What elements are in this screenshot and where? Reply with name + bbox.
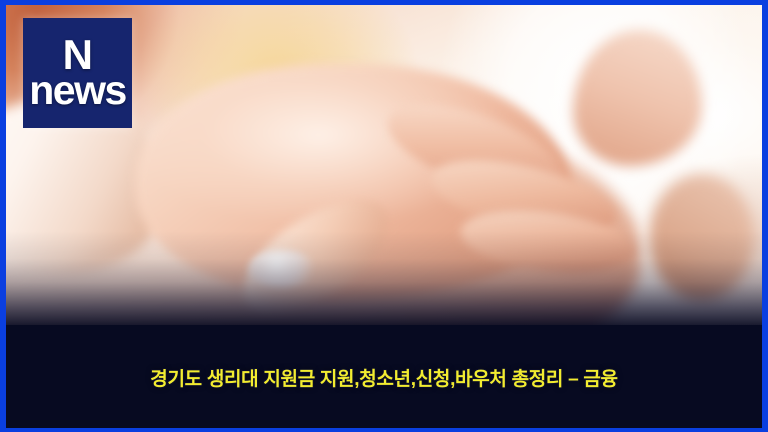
frame-edge-left — [0, 0, 6, 432]
frame-edge-top — [0, 0, 768, 5]
news-thumbnail-card: N news 경기도 생리대 지원금 지원,청소년,신청,바우처 총정리 – 금… — [0, 0, 768, 432]
news-logo-wordmark: news — [29, 72, 126, 110]
frame-edge-right — [762, 0, 768, 432]
caption-headline: 경기도 생리대 지원금 지원,청소년,신청,바우처 총정리 – 금융 — [0, 364, 768, 391]
news-logo-badge: N news — [23, 18, 132, 128]
